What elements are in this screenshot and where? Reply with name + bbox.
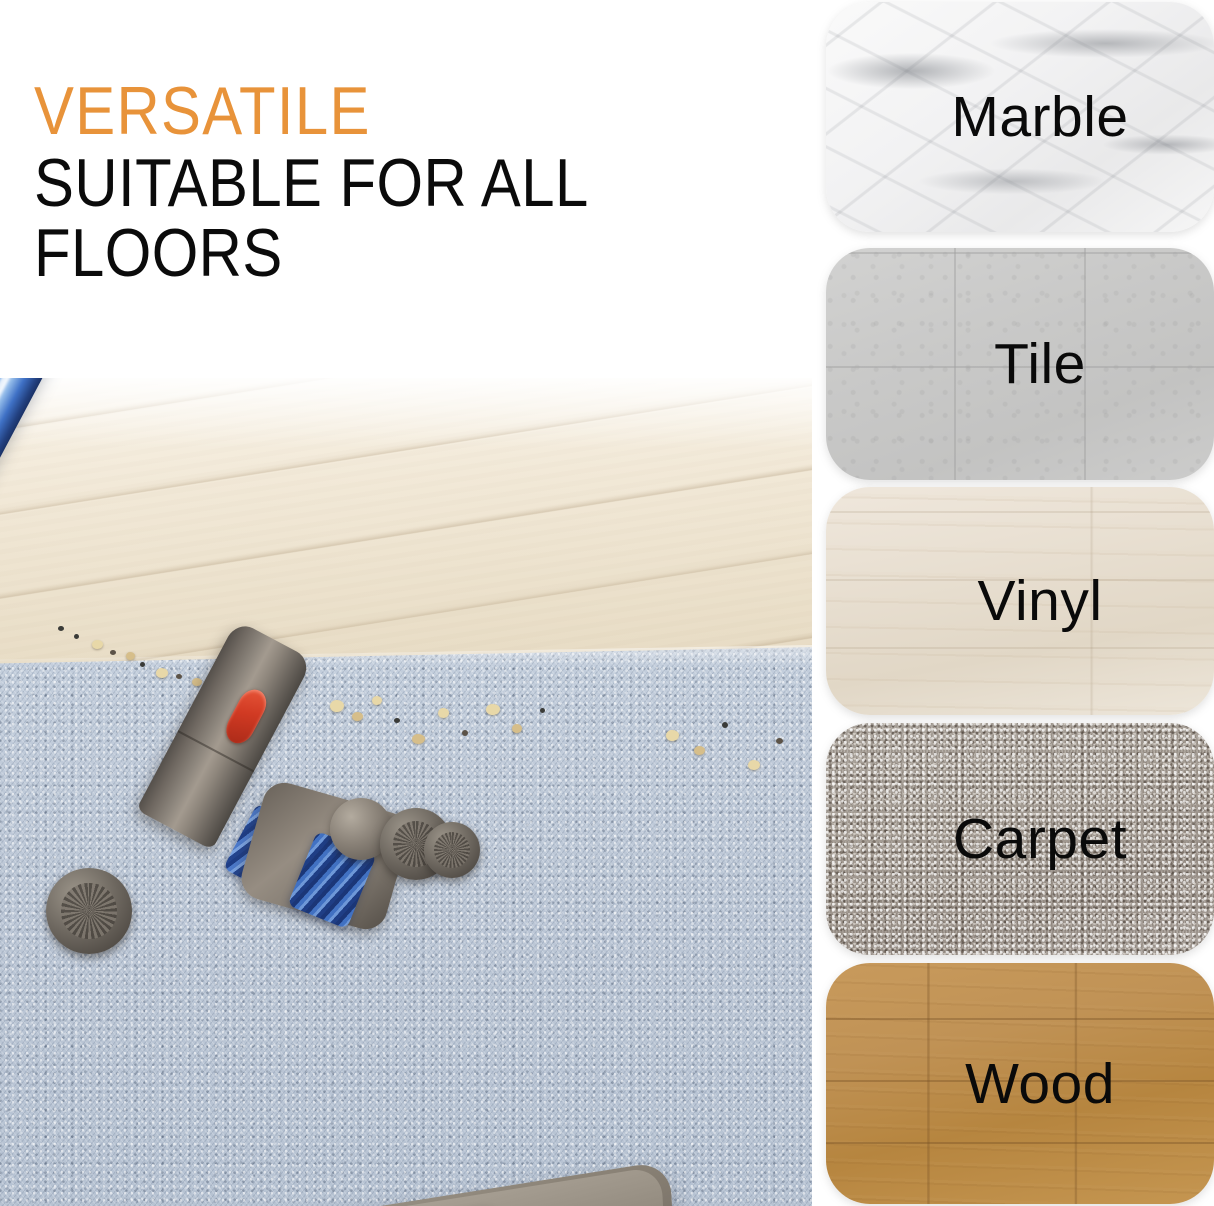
release-button	[220, 684, 271, 748]
product-photo	[0, 378, 812, 1206]
debris-speck	[110, 650, 116, 655]
headline-block: VERSATILE SUITABLE FOR ALL FLOORS	[34, 80, 794, 288]
head-wheel	[424, 822, 480, 878]
headline-kicker: VERSATILE	[34, 80, 703, 143]
headline-main: SUITABLE FOR ALL FLOORS	[34, 149, 703, 288]
wheel-tread	[61, 883, 116, 938]
debris-speck	[540, 708, 545, 713]
floor-panel-label-marble: Marble	[826, 84, 1214, 150]
debris-speck	[58, 626, 64, 631]
floor-panel-label-vinyl: Vinyl	[826, 568, 1214, 634]
floor-panel-tile: Tile	[826, 248, 1214, 480]
floor-panel-label-carpet: Carpet	[826, 806, 1214, 872]
debris-speck	[462, 730, 468, 736]
debris-speck	[776, 738, 783, 744]
floor-panel-vinyl: Vinyl	[826, 487, 1214, 715]
headline-line-1: SUITABLE FOR ALL	[34, 149, 703, 218]
floor-panel-carpet: Carpet	[826, 723, 1214, 955]
floor-type-panel-list: Marble Tile Vinyl Carpet Wood	[826, 0, 1214, 1206]
headline-line-2: FLOORS	[34, 219, 703, 288]
floor-panel-label-tile: Tile	[826, 331, 1214, 397]
head-wheel	[46, 868, 132, 954]
debris-speck	[74, 634, 79, 639]
photo-top-fade	[0, 378, 812, 448]
debris-speck	[140, 662, 145, 667]
product-feature-graphic: VERSATILE SUITABLE FOR ALL FLOORS	[0, 0, 1214, 1206]
floor-panel-label-wood: Wood	[826, 1051, 1214, 1117]
wheel-tread	[434, 832, 470, 868]
debris-speck	[722, 722, 728, 728]
floor-panel-marble: Marble	[826, 2, 1214, 232]
debris-speck	[394, 718, 400, 723]
floor-panel-wood: Wood	[826, 963, 1214, 1204]
debris-speck	[176, 674, 182, 679]
